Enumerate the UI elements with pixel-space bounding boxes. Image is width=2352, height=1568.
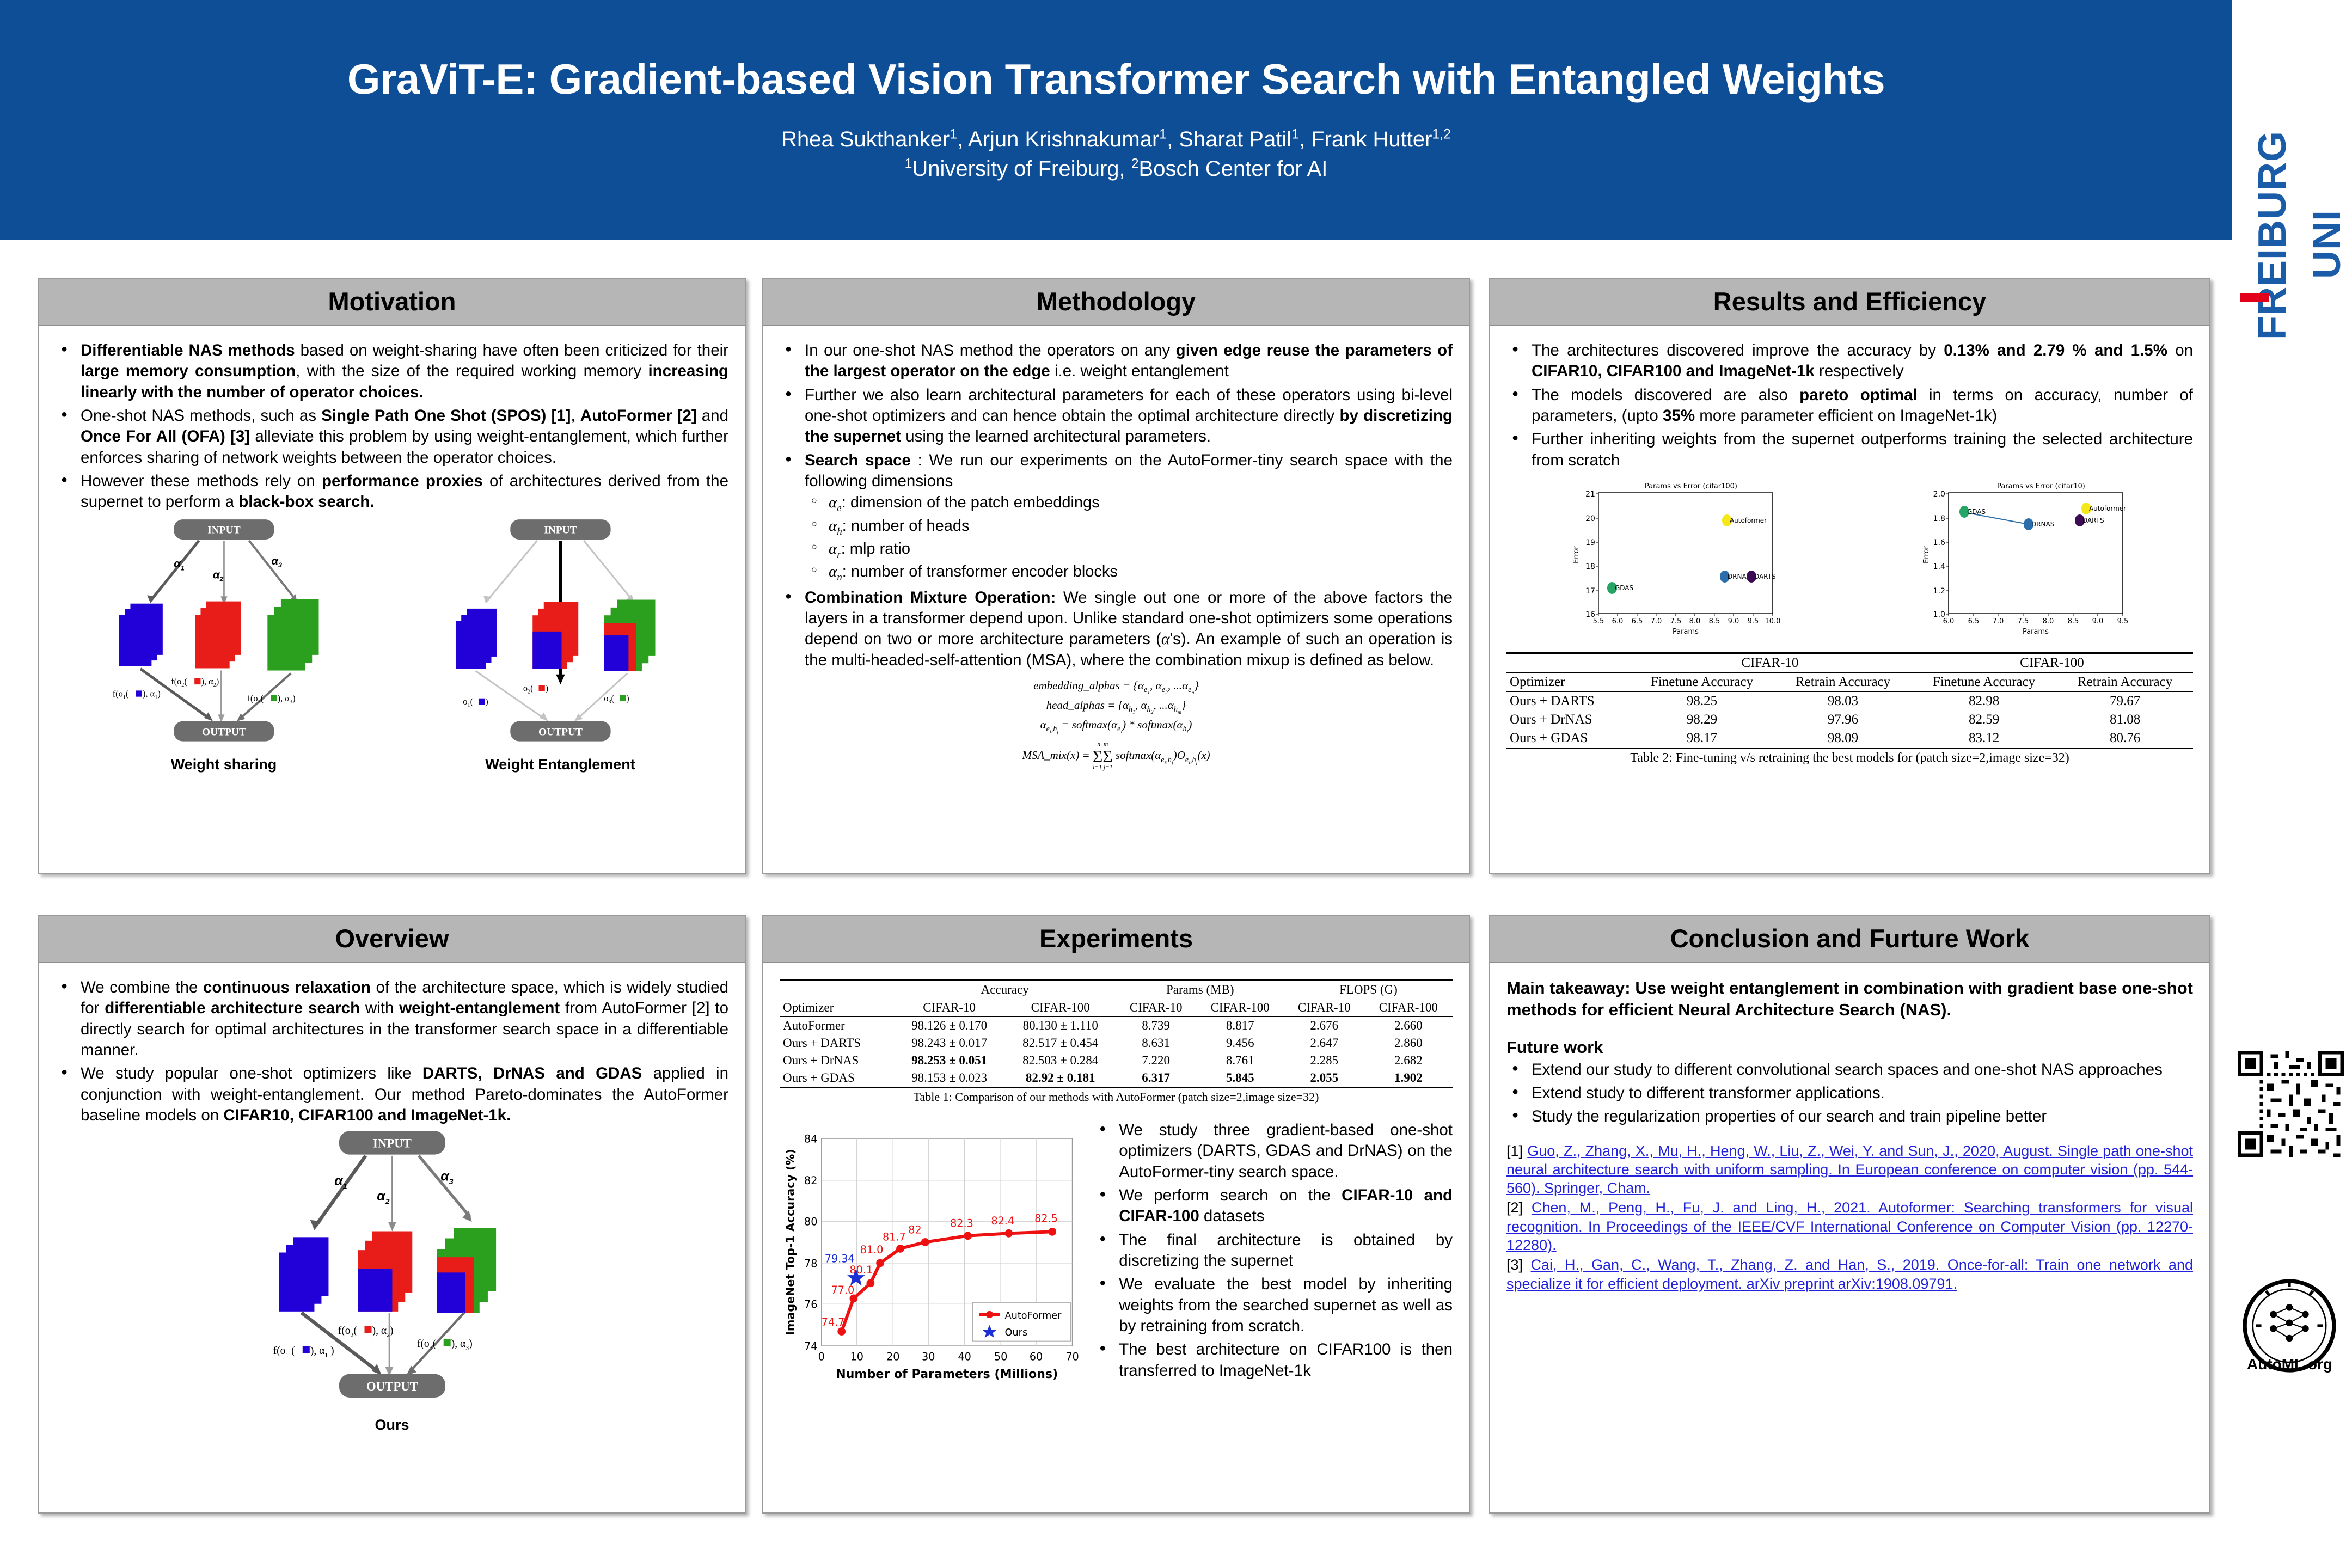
table-row: Ours + DARTS 98.25 98.03 82.98 79.67 xyxy=(1506,692,2193,711)
svg-text:Autoformer: Autoformer xyxy=(2089,505,2126,512)
chart-imagenet-accuracy-vs-params: 84 82 80 78 76 74 0 10 20 30 40 50 xyxy=(780,1120,1085,1406)
equation-alpha-product: αei,hj = softmax(αei) * softmax(αhj) xyxy=(780,716,1453,736)
table-group-header-flops: FLOPS (G) xyxy=(1284,981,1453,999)
main-takeaway: Main takeaway: Use weight entanglement i… xyxy=(1506,977,2193,1021)
panel-overview: Overview We combine the continuous relax… xyxy=(38,915,746,1514)
table-col-c100-retrain: Retrain Accuracy xyxy=(2057,673,2193,692)
equation-embedding-alphas: embedding_alphas = {αe1, αe2, ...αen} xyxy=(780,677,1453,697)
list-item: However these methods rely on performanc… xyxy=(56,471,728,513)
author-list: Rhea Sukthanker1, Arjun Krishnakumar1, S… xyxy=(781,125,1451,154)
svg-text:OUTPUT: OUTPUT xyxy=(366,1380,418,1393)
table-col-c10-finetune: Finetune Accuracy xyxy=(1629,673,1775,692)
svg-text:), α1): ), α1) xyxy=(143,688,161,700)
table-row: Ours + DrNAS 98.253 ± 0.051 82.503 ± 0.2… xyxy=(780,1052,1453,1069)
svg-text:1.6: 1.6 xyxy=(1933,538,1945,547)
svg-text:α3: α3 xyxy=(440,1169,453,1186)
panel-experiments: Experiments Accuracy Params (MB) FLOPS (… xyxy=(762,915,1470,1514)
list-item: The models discovered are also pareto op… xyxy=(1506,385,2193,427)
svg-text:), α2): ), α2) xyxy=(372,1325,393,1338)
ours-diagram-svg: INPUT α1 α2 α3 xyxy=(197,1129,587,1412)
svg-text:21: 21 xyxy=(1585,490,1595,499)
table-group-header-params: Params (MB) xyxy=(1116,981,1284,999)
svg-text:80.1: 80.1 xyxy=(849,1264,873,1276)
svg-text:84: 84 xyxy=(804,1132,817,1145)
svg-text:Autoformer: Autoformer xyxy=(1730,517,1767,524)
list-item: One-shot NAS methods, such as Single Pat… xyxy=(56,406,728,468)
uni-freiburg-logo: UNI FREIBURG xyxy=(2240,71,2344,343)
svg-text:o1(: o1( xyxy=(463,696,473,708)
motivation-bullet-list: Differentiable NAS methods based on weig… xyxy=(56,340,728,513)
svg-text:82: 82 xyxy=(908,1223,921,1236)
methodology-bullet-list: In our one-shot NAS method the operators… xyxy=(780,340,1453,671)
table-1: Accuracy Params (MB) FLOPS (G) Optimizer… xyxy=(780,979,1453,1106)
svg-text:19: 19 xyxy=(1585,538,1595,547)
reference-text[interactable]: Chen, M., Peng, H., Fu, J. and Ling, H.,… xyxy=(1506,1199,2193,1253)
table-cell: 8.631 xyxy=(1116,1034,1196,1052)
scatter-cifar100-svg: Params vs Error (cifar100) 21 20 19 18 1… xyxy=(1506,479,1843,642)
diagram-ours: INPUT α1 α2 α3 xyxy=(197,1129,587,1434)
table-row: AutoFormer 98.126 ± 0.170 80.130 ± 1.110… xyxy=(780,1017,1453,1035)
list-item: αh: number of heads xyxy=(805,516,1453,538)
svg-text:78: 78 xyxy=(804,1257,817,1270)
svg-text:1.8: 1.8 xyxy=(1933,514,1945,523)
svg-text:17: 17 xyxy=(1585,587,1595,596)
list-item: We combine the continuous relaxation of … xyxy=(56,977,728,1061)
table-cell: 83.12 xyxy=(1911,729,2057,749)
table-row: Accuracy Params (MB) FLOPS (G) xyxy=(780,981,1453,999)
svg-text:6.0: 6.0 xyxy=(1943,617,1955,626)
svg-text:74.7: 74.7 xyxy=(822,1316,845,1328)
weight-sharing-svg: INPUT α1 α2 α3 xyxy=(66,517,382,751)
svg-text:77.0: 77.0 xyxy=(831,1284,855,1296)
reference-item-3[interactable]: [3] Cai, H., Gan, C., Wang, T., Zhang, Z… xyxy=(1506,1255,2193,1293)
table-col-optimizer: Optimizer xyxy=(1506,673,1629,692)
list-item: Further inheriting weights from the supe… xyxy=(1506,429,2193,471)
svg-text:82.5: 82.5 xyxy=(1034,1212,1058,1225)
svg-text:DARTS: DARTS xyxy=(2082,517,2104,524)
svg-text:82.3: 82.3 xyxy=(950,1217,973,1229)
table-cell: 6.317 xyxy=(1116,1069,1196,1088)
svg-text:18: 18 xyxy=(1585,562,1595,571)
table-row: CIFAR-10 CIFAR-100 xyxy=(1506,653,2193,673)
reference-item-2[interactable]: [2] Chen, M., Peng, H., Fu, J. and Ling,… xyxy=(1506,1198,2193,1254)
table-1-caption: Table 1: Comparison of our methods with … xyxy=(780,1088,1453,1106)
table-group-header-cifar10: CIFAR-10 xyxy=(1629,653,1911,673)
table-cell: 5.845 xyxy=(1196,1069,1284,1088)
methodology-heading: Methodology xyxy=(763,279,1469,326)
list-item: αe: dimension of the patch embeddings xyxy=(805,493,1453,515)
results-charts: Params vs Error (cifar100) 21 20 19 18 1… xyxy=(1506,479,2193,645)
chart-ylabel-cifar100: Error xyxy=(1572,546,1581,563)
table-cell: 98.03 xyxy=(1775,692,1911,711)
svg-text:40: 40 xyxy=(958,1351,971,1363)
panel-motivation: Motivation Differentiable NAS methods ba… xyxy=(38,278,746,874)
svg-text:), α3): ), α3) xyxy=(451,1338,472,1351)
list-item: αr: mlp ratio xyxy=(805,539,1453,561)
list-item: The final architecture is obtained by di… xyxy=(1094,1230,1453,1272)
svg-text:INPUT: INPUT xyxy=(544,524,577,536)
table-caption-row: Table 1: Comparison of our methods with … xyxy=(780,1088,1453,1106)
table-group-header-accuracy: Accuracy xyxy=(894,981,1116,999)
list-item: We perform search on the CIFAR-10 and CI… xyxy=(1094,1185,1453,1227)
svg-text:9.0: 9.0 xyxy=(1728,617,1739,626)
results-bullet-list: The architectures discovered improve the… xyxy=(1506,340,2193,471)
results-heading: Results and Efficiency xyxy=(1490,279,2209,326)
table-cell: Ours + GDAS xyxy=(1506,729,1629,749)
imagenet-line-chart-svg: 84 82 80 78 76 74 0 10 20 30 40 50 xyxy=(780,1120,1085,1403)
uni-logo-line1: UNI xyxy=(2305,210,2349,279)
table-cell: 97.96 xyxy=(1775,710,1911,729)
svg-text:6.0: 6.0 xyxy=(1612,617,1624,626)
table-cell: 82.92 ± 0.181 xyxy=(1005,1069,1116,1088)
automl-logo-text: AutoML.org xyxy=(2226,1356,2352,1373)
svg-text:8.0: 8.0 xyxy=(2043,617,2054,626)
table-col-flops-c10: CIFAR-10 xyxy=(1284,999,1364,1017)
table-cell: 8.817 xyxy=(1196,1017,1284,1035)
table-cell: 98.153 ± 0.023 xyxy=(894,1069,1005,1088)
experiments-bullets-wrap: We study three gradient-based one-shot o… xyxy=(1094,1120,1453,1406)
table-cell: 80.130 ± 1.110 xyxy=(1005,1017,1116,1035)
table-col-acc-c10: CIFAR-10 xyxy=(894,999,1005,1017)
table-cell: 2.682 xyxy=(1364,1052,1453,1069)
reference-text[interactable]: Cai, H., Gan, C., Wang, T., Zhang, Z. an… xyxy=(1506,1257,2193,1291)
svg-text:8.0: 8.0 xyxy=(1689,617,1701,626)
svg-text:6.5: 6.5 xyxy=(1632,617,1643,626)
list-item: We study three gradient-based one-shot o… xyxy=(1094,1120,1453,1183)
chart-xlabel-cifar10: Params xyxy=(2023,628,2049,636)
svg-text:82: 82 xyxy=(804,1174,817,1187)
scatter-cifar10-svg: Params vs Error (cifar10) 2.0 1.8 1.6 1.… xyxy=(1857,479,2193,642)
svg-text:9.5: 9.5 xyxy=(1748,617,1759,626)
table-col-par-c10: CIFAR-10 xyxy=(1116,999,1196,1017)
table-2: CIFAR-10 CIFAR-100 Optimizer Finetune Ac… xyxy=(1506,652,2193,767)
svg-text:GDAS: GDAS xyxy=(1967,508,1986,516)
svg-text:GDAS: GDAS xyxy=(1615,584,1633,592)
overview-diagram-wrap: INPUT α1 α2 α3 xyxy=(56,1129,728,1434)
table-cell: 82.59 xyxy=(1911,710,2057,729)
svg-text:50: 50 xyxy=(994,1351,1007,1363)
page-title: GraViT-E: Gradient-based Vision Transfor… xyxy=(347,56,1885,103)
table-col-c100-finetune: Finetune Accuracy xyxy=(1911,673,2057,692)
affiliation-list: 1University of Freiburg, 2Bosch Center f… xyxy=(905,154,1328,183)
svg-text:f(o2(: f(o2( xyxy=(171,676,187,688)
svg-text:INPUT: INPUT xyxy=(207,524,241,536)
svg-text:o3(: o3( xyxy=(604,693,614,705)
list-item: In our one-shot NAS method the operators… xyxy=(780,340,1453,382)
table-cell: AutoFormer xyxy=(780,1017,894,1035)
chart-ylabel-cifar10: Error xyxy=(1922,546,1931,563)
overview-heading: Overview xyxy=(39,916,745,963)
table-cell: 80.76 xyxy=(2057,729,2193,749)
panel-methodology: Methodology In our one-shot NAS method t… xyxy=(762,278,1470,874)
svg-text:α1: α1 xyxy=(334,1173,347,1191)
table-cell: 98.29 xyxy=(1629,710,1775,729)
list-item: The best architecture on CIFAR100 is the… xyxy=(1094,1339,1453,1381)
reference-number: [1] xyxy=(1506,1143,1523,1159)
table-cell: 2.647 xyxy=(1284,1034,1364,1052)
diagram-weight-sharing: INPUT α1 α2 α3 xyxy=(66,517,382,773)
reference-item-1[interactable]: [1] Guo, Z., Zhang, X., Mu, H., Heng, W.… xyxy=(1506,1142,2193,1198)
reference-number: [3] xyxy=(1506,1257,1523,1273)
svg-text:α2: α2 xyxy=(377,1189,389,1206)
table-cell: 9.456 xyxy=(1196,1034,1284,1052)
reference-number: [2] xyxy=(1506,1199,1523,1216)
table-row: Ours + DARTS 98.243 ± 0.017 82.517 ± 0.4… xyxy=(780,1034,1453,1052)
svg-text:8.5: 8.5 xyxy=(1709,617,1720,626)
table-cell: 98.243 ± 0.017 xyxy=(894,1034,1005,1052)
results-body: The architectures discovered improve the… xyxy=(1490,326,2209,778)
svg-text:80: 80 xyxy=(804,1216,817,1228)
list-item: Extend our study to different convolutio… xyxy=(1506,1059,2193,1080)
table-cell: 82.517 ± 0.454 xyxy=(1005,1034,1116,1052)
table-cell: 2.660 xyxy=(1364,1017,1453,1035)
chart-params-vs-error-cifar10: Params vs Error (cifar10) 2.0 1.8 1.6 1.… xyxy=(1857,479,2193,645)
equation-block: embedding_alphas = {αe1, αe2, ...αen} he… xyxy=(780,677,1453,771)
future-work-list: Extend our study to different convolutio… xyxy=(1506,1059,2193,1128)
legend-ours: Ours xyxy=(1005,1327,1028,1338)
svg-text:), α3): ), α3) xyxy=(277,693,295,705)
panel-results: Results and Efficiency The architectures… xyxy=(1489,278,2210,874)
svg-text:60: 60 xyxy=(1030,1351,1043,1363)
methodology-body: In our one-shot NAS method the operators… xyxy=(763,326,1469,782)
table-col-par-c100: CIFAR-100 xyxy=(1196,999,1284,1017)
svg-text:f(o1(: f(o1( xyxy=(112,688,128,700)
table-cell: 82.98 xyxy=(1911,692,2057,711)
motivation-heading: Motivation xyxy=(39,279,745,326)
svg-text:10.0: 10.0 xyxy=(1765,617,1780,626)
panel-conclusion: Conclusion and Furture Work Main takeawa… xyxy=(1489,915,2210,1514)
table-caption-row: Table 2: Fine-tuning v/s retraining the … xyxy=(1506,749,2193,768)
experiments-lower: 84 82 80 78 76 74 0 10 20 30 40 50 xyxy=(780,1120,1453,1406)
legend-autoformer: AutoFormer xyxy=(1005,1310,1062,1321)
table-cell xyxy=(780,981,894,999)
list-item: Search space : We run our experiments on… xyxy=(780,450,1453,585)
svg-text:9.0: 9.0 xyxy=(2092,617,2104,626)
overview-body: We combine the continuous relaxation of … xyxy=(39,963,745,1444)
table-cell: 81.08 xyxy=(2057,710,2193,729)
table-cell: 98.126 ± 0.170 xyxy=(894,1017,1005,1035)
svg-text:o2(: o2( xyxy=(523,683,533,695)
overview-bullet-list: We combine the continuous relaxation of … xyxy=(56,977,728,1126)
chart-title-cifar100: Params vs Error (cifar100) xyxy=(1645,482,1737,491)
svg-text:f(o2(: f(o2( xyxy=(338,1325,357,1338)
equation-msa-mix: MSA_mix(x) = n m ΣΣ i=1 j=1 softmax(αei,… xyxy=(780,742,1453,771)
svg-text:f(o3(: f(o3( xyxy=(247,693,264,705)
svg-text:DRNAS: DRNAS xyxy=(2031,520,2054,528)
conclusion-body: Main takeaway: Use weight entanglement i… xyxy=(1490,963,2209,1305)
svg-text:76: 76 xyxy=(804,1298,817,1311)
svg-text:8.5: 8.5 xyxy=(2068,617,2079,626)
table-cell: Ours + DrNAS xyxy=(780,1052,894,1069)
svg-text:81.7: 81.7 xyxy=(883,1231,906,1244)
table-cell: 98.09 xyxy=(1775,729,1911,749)
table-cell: Ours + DARTS xyxy=(780,1034,894,1052)
diagram-caption-weight-entanglement: Weight Entanglement xyxy=(402,756,719,773)
svg-text:), α2): ), α2) xyxy=(201,676,219,688)
diagram-weight-entanglement: INPUT xyxy=(402,517,719,773)
equation-head-alphas: head_alphas = {αh1, αh2, ...αhm} xyxy=(780,697,1453,716)
svg-text:74: 74 xyxy=(804,1340,817,1352)
list-item: Study the regularization properties of o… xyxy=(1506,1106,2193,1127)
table-cell: 2.676 xyxy=(1284,1017,1364,1035)
svg-text:79.34: 79.34 xyxy=(825,1252,855,1265)
diagram-caption-weight-sharing: Weight sharing xyxy=(66,756,382,773)
svg-text:f(o1 (: f(o1 ( xyxy=(273,1345,295,1358)
table-cell: 82.503 ± 0.284 xyxy=(1005,1052,1116,1069)
table-row: Ours + GDAS 98.17 98.09 83.12 80.76 xyxy=(1506,729,2193,749)
table-cell: 98.25 xyxy=(1629,692,1775,711)
future-work-heading: Future work xyxy=(1506,1038,2193,1057)
svg-text:5.5: 5.5 xyxy=(1593,617,1604,626)
list-item: Extend study to different transformer ap… xyxy=(1506,1083,2193,1104)
svg-text:0: 0 xyxy=(818,1351,825,1363)
svg-text:α3: α3 xyxy=(271,555,282,569)
qr-code[interactable] xyxy=(2238,1051,2344,1157)
list-item: The architectures discovered improve the… xyxy=(1506,340,2193,382)
table-2-caption: Table 2: Fine-tuning v/s retraining the … xyxy=(1506,749,2193,768)
svg-text:10: 10 xyxy=(850,1351,863,1363)
table-col-acc-c100: CIFAR-100 xyxy=(1005,999,1116,1017)
table-cell: 8.761 xyxy=(1196,1052,1284,1069)
table-header-row: Optimizer CIFAR-10 CIFAR-100 CIFAR-10 CI… xyxy=(780,999,1453,1017)
chart-xlabel-cifar100: Params xyxy=(1673,628,1699,636)
svg-text:): ) xyxy=(626,693,629,703)
table-cell xyxy=(1506,653,1629,673)
svg-text:7.5: 7.5 xyxy=(2018,617,2029,626)
diagram-caption-ours: Ours xyxy=(197,1417,587,1434)
list-item: Further we also learn architectural para… xyxy=(780,385,1453,448)
table-col-flops-c100: CIFAR-100 xyxy=(1364,999,1453,1017)
reference-text[interactable]: Guo, Z., Zhang, X., Mu, H., Heng, W., Li… xyxy=(1506,1143,2193,1197)
svg-text:7.0: 7.0 xyxy=(1993,617,2004,626)
table-cell: Ours + DARTS xyxy=(1506,692,1629,711)
imagenet-chart-xlabel: Number of Parameters (Millions) xyxy=(836,1367,1058,1381)
svg-text:2.0: 2.0 xyxy=(1933,490,1945,499)
svg-text:): ) xyxy=(545,683,548,693)
svg-text:9.5: 9.5 xyxy=(2117,617,2129,626)
weight-entanglement-svg: INPUT xyxy=(402,517,719,751)
svg-text:f(o3(: f(o3( xyxy=(417,1338,436,1351)
references-list: [1] Guo, Z., Zhang, X., Mu, H., Heng, W.… xyxy=(1506,1142,2193,1293)
table-row: Ours + GDAS 98.153 ± 0.023 82.92 ± 0.181… xyxy=(780,1069,1453,1088)
list-item: Combination Mixture Operation: We single… xyxy=(780,587,1453,671)
svg-text:1.4: 1.4 xyxy=(1933,562,1945,571)
imagenet-chart-ylabel: ImageNet Top-1 Accuracy (%) xyxy=(784,1149,797,1336)
svg-text:20: 20 xyxy=(1585,514,1595,523)
table-cell: 2.860 xyxy=(1364,1034,1453,1052)
table-col-optimizer: Optimizer xyxy=(780,999,894,1017)
table-cell: 79.67 xyxy=(2057,692,2193,711)
poster-header: GraViT-E: Gradient-based Vision Transfor… xyxy=(0,0,2232,240)
table-cell: 2.285 xyxy=(1284,1052,1364,1069)
list-item: We study popular one-shot optimizers lik… xyxy=(56,1063,728,1126)
uni-logo-red-bar xyxy=(2240,293,2269,302)
table-cell: 2.055 xyxy=(1284,1069,1364,1088)
table-cell: Ours + GDAS xyxy=(780,1069,894,1088)
table-col-c10-retrain: Retrain Accuracy xyxy=(1775,673,1911,692)
list-item: We evaluate the best model by inheriting… xyxy=(1094,1274,1453,1337)
svg-text:20: 20 xyxy=(886,1351,899,1363)
svg-text:DARTS: DARTS xyxy=(1754,573,1776,580)
table-group-header-cifar100: CIFAR-100 xyxy=(1911,653,2193,673)
svg-text:α2: α2 xyxy=(213,568,224,583)
experiments-heading: Experiments xyxy=(763,916,1469,963)
list-item: αn: number of transformer encoder blocks xyxy=(805,562,1453,584)
experiments-body: Accuracy Params (MB) FLOPS (G) Optimizer… xyxy=(763,963,1469,1417)
table-cell: 98.253 ± 0.051 xyxy=(894,1052,1005,1069)
svg-text:), α1 ): ), α1 ) xyxy=(310,1345,334,1358)
table-header-row: Optimizer Finetune Accuracy Retrain Accu… xyxy=(1506,673,2193,692)
table-cell: 98.17 xyxy=(1629,729,1775,749)
svg-text:70: 70 xyxy=(1065,1351,1079,1363)
svg-text:30: 30 xyxy=(922,1351,935,1363)
table-cell: Ours + DrNAS xyxy=(1506,710,1629,729)
uni-logo-line2: FREIBURG xyxy=(2250,131,2295,340)
conclusion-heading: Conclusion and Furture Work xyxy=(1490,916,2209,963)
chart-title-cifar10: Params vs Error (cifar10) xyxy=(1997,482,2085,491)
svg-text:6.5: 6.5 xyxy=(1968,617,1980,626)
svg-text:OUTPUT: OUTPUT xyxy=(202,726,246,738)
table-row: Ours + DrNAS 98.29 97.96 82.59 81.08 xyxy=(1506,710,2193,729)
table-cell: 7.220 xyxy=(1116,1052,1196,1069)
svg-text:): ) xyxy=(485,696,488,707)
svg-text:OUTPUT: OUTPUT xyxy=(538,726,583,738)
svg-text:7.5: 7.5 xyxy=(1670,617,1682,626)
list-item: Differentiable NAS methods based on weig… xyxy=(56,340,728,403)
search-space-dimension-list: αe: dimension of the patch embeddings αh… xyxy=(805,493,1453,584)
chart-params-vs-error-cifar100: Params vs Error (cifar100) 21 20 19 18 1… xyxy=(1506,479,1843,645)
svg-text:7.0: 7.0 xyxy=(1651,617,1662,626)
svg-text:INPUT: INPUT xyxy=(373,1137,412,1150)
motivation-diagrams: INPUT α1 α2 α3 xyxy=(56,517,728,773)
svg-text:81.0: 81.0 xyxy=(860,1244,884,1256)
table-cell: 1.902 xyxy=(1364,1069,1453,1088)
svg-text:82.4: 82.4 xyxy=(991,1215,1014,1227)
table-cell: 8.739 xyxy=(1116,1017,1196,1035)
svg-text:1.2: 1.2 xyxy=(1933,587,1945,596)
motivation-body: Differentiable NAS methods based on weig… xyxy=(39,326,745,784)
experiments-bullet-list: We study three gradient-based one-shot o… xyxy=(1094,1120,1453,1381)
